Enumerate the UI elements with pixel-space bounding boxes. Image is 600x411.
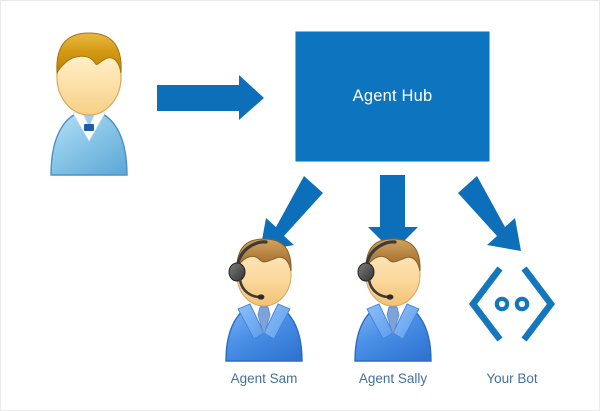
agent-sally-label: Agent Sally <box>343 371 443 386</box>
bot-eye-left <box>497 299 507 309</box>
headset-microphone <box>258 294 265 299</box>
headset-earcup <box>229 263 245 281</box>
customer-avatar-icon <box>51 33 127 175</box>
your-bot-label: Your Bot <box>462 371 562 386</box>
headset-earcup <box>358 263 374 281</box>
bot-eye-right <box>517 299 527 309</box>
agent-sam-avatar-icon <box>226 239 302 361</box>
agent-hub-label: Agent Hub <box>353 87 433 106</box>
customer-tie <box>84 124 94 131</box>
agent-hub-box[interactable]: Agent Hub <box>296 32 489 161</box>
customer-to-hub-arrow <box>157 75 264 120</box>
diagram-canvas: Agent Hub Agent Sam Agent Sally Your Bot <box>0 0 600 411</box>
hub-to-your-bot-arrow <box>458 176 521 251</box>
code-bot-icon <box>473 271 551 337</box>
customer-shirt <box>51 111 127 175</box>
agent-sally-avatar-icon <box>355 239 431 361</box>
agent-sam-label: Agent Sam <box>214 371 314 386</box>
bot-right-bracket <box>526 271 551 337</box>
bot-left-bracket <box>473 271 498 337</box>
headset-microphone <box>387 294 394 299</box>
